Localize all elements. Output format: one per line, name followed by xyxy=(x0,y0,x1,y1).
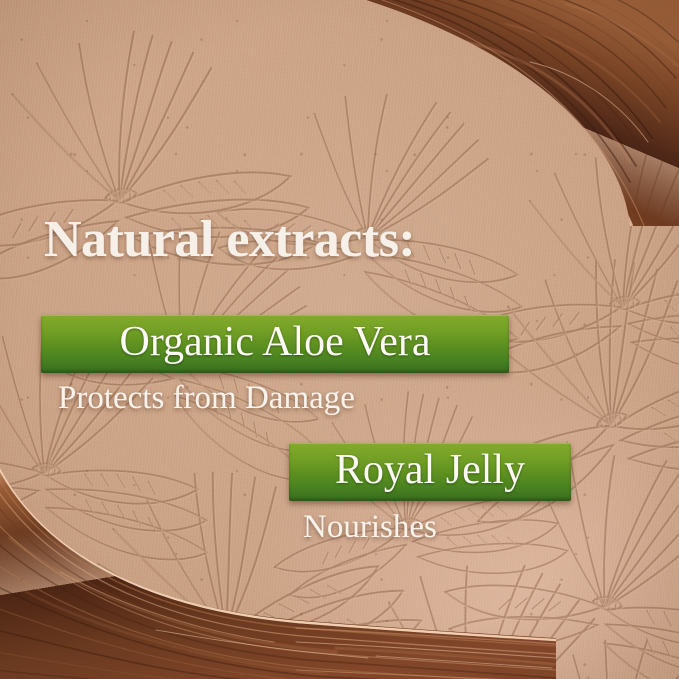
extract-banner-aloe-vera: Organic Aloe Vera xyxy=(41,315,509,373)
extract-name-label: Royal Jelly xyxy=(335,449,525,495)
extract-name-label: Organic Aloe Vera xyxy=(119,321,430,367)
product-image-canvas: Natural extracts: Organic Aloe Vera Prot… xyxy=(0,0,679,679)
extract-benefit-aloe-vera: Protects from Damage xyxy=(58,380,355,417)
page-title: Natural extracts: xyxy=(44,210,415,269)
extract-benefit-royal-jelly: Nourishes xyxy=(303,509,437,546)
hair-strand-top-right xyxy=(330,0,679,226)
extract-banner-royal-jelly: Royal Jelly xyxy=(289,443,571,501)
